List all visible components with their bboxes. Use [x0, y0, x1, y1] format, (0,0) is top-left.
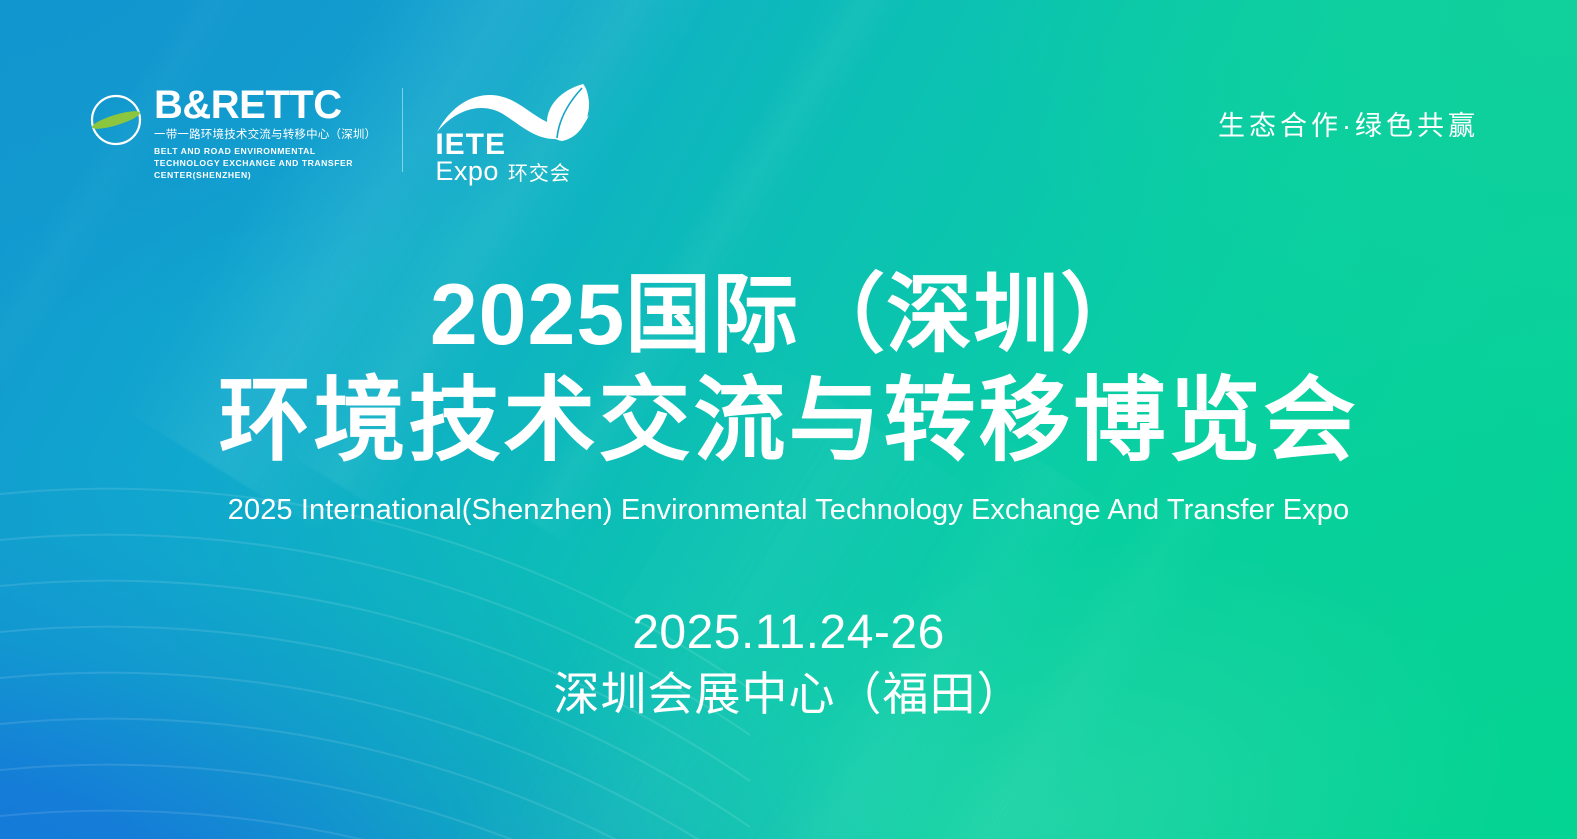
- banner-main-copy: 2025国际（深圳） 环境技术交流与转移博览会 2025 Internation…: [0, 0, 1577, 839]
- event-title-line-2: 环境技术交流与转移博览会: [0, 375, 1577, 467]
- event-title-line-1: 2025国际（深圳）: [0, 272, 1577, 358]
- event-subtitle-english: 2025 International(Shenzhen) Environment…: [0, 493, 1577, 528]
- event-banner: B&RETTC 一带一路环境技术交流与转移中心（深圳） BELT AND ROA…: [0, 0, 1577, 839]
- event-date: 2025.11.24-26: [0, 609, 1577, 657]
- event-venue: 深圳会展中心（福田）: [0, 668, 1577, 721]
